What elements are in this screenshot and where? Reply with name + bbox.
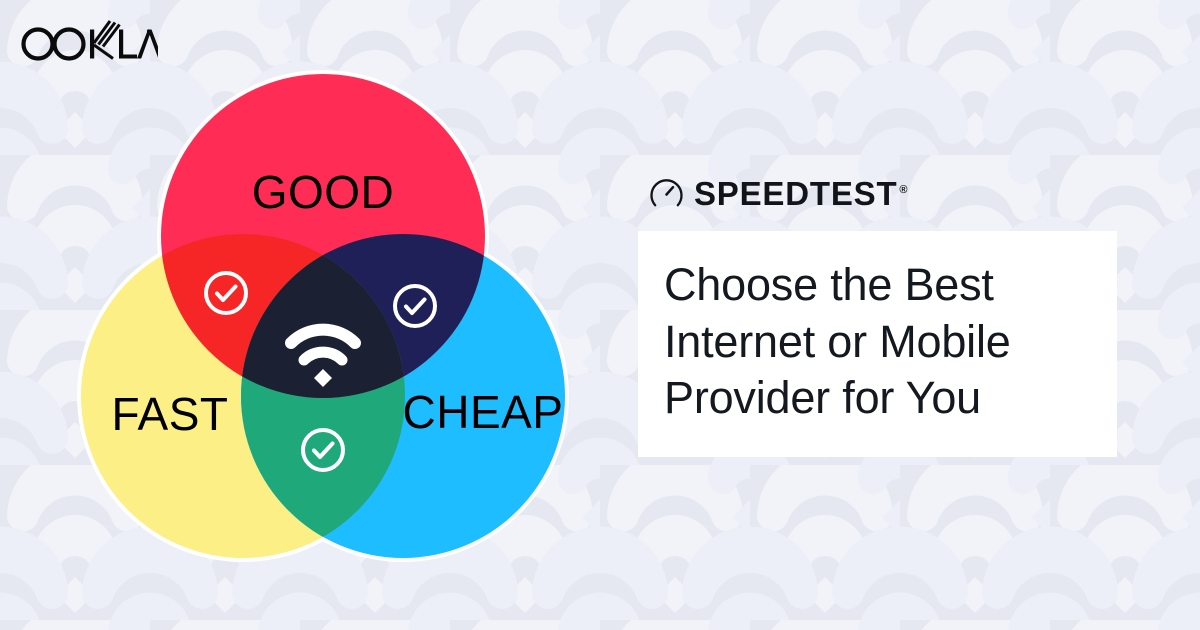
headline-line-3: Provider for You — [664, 372, 981, 423]
speedtest-wordmark-text: SPEEDTEST — [694, 175, 897, 212]
headline-line-1: Choose the Best — [664, 259, 994, 310]
headline-line-2: Internet or Mobile — [664, 316, 1011, 367]
speedtest-registered-mark: ® — [899, 184, 908, 196]
headline-card: Choose the Best Internet or Mobile Provi… — [638, 231, 1117, 457]
ookla-logo — [18, 18, 158, 62]
speedtest-wordmark: SPEEDTEST® — [694, 177, 908, 210]
venn-label-fast: FAST — [111, 388, 228, 440]
speed-gauge-icon — [650, 177, 683, 210]
venn-label-cheap: CHEAP — [403, 386, 564, 438]
venn-label-good: GOOD — [252, 166, 395, 218]
page-title: Choose the Best Internet or Mobile Provi… — [664, 257, 1087, 427]
promo-graphic: GOOD FAST CHEAP — [0, 0, 1200, 630]
right-content-column: SPEEDTEST® Choose the Best Internet or M… — [638, 170, 1128, 457]
venn-diagram: GOOD FAST CHEAP — [55, 58, 615, 578]
speedtest-logo: SPEEDTEST® — [650, 170, 1128, 216]
